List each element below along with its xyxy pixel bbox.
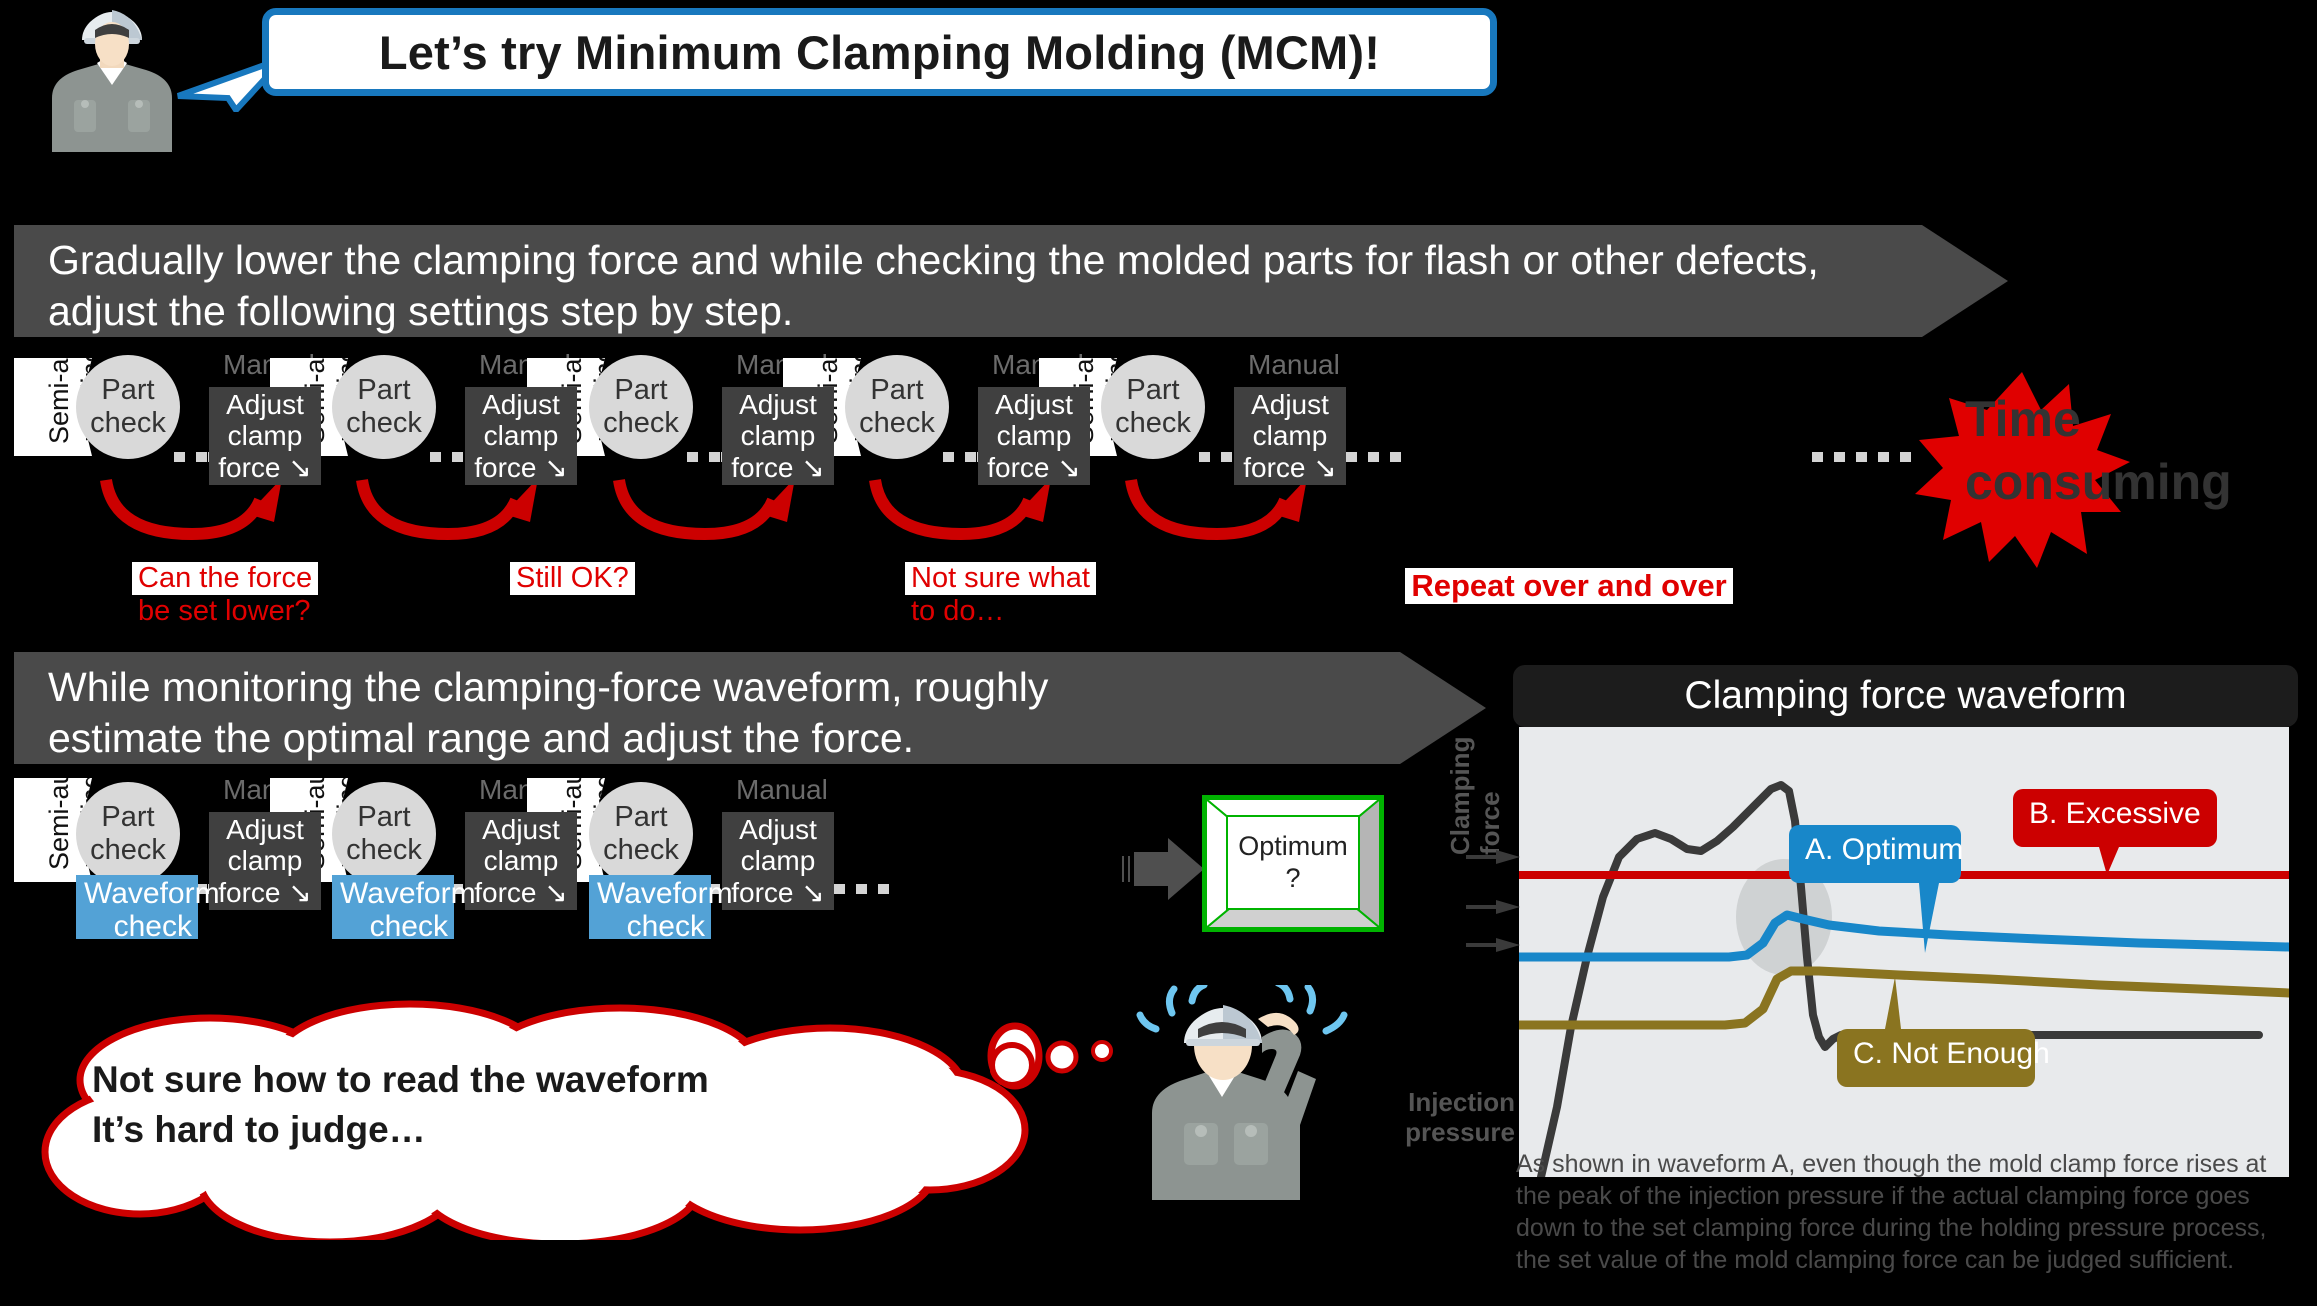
part-check-label-line1: Part	[614, 801, 667, 834]
part-check-label-line1: Part	[101, 801, 154, 834]
note-can-force-be-lower: Can the forcebe set lower?	[132, 562, 384, 629]
semi-auto-molding-label-line1: Semi-auto	[44, 321, 75, 444]
part-check-label-line2: check	[859, 407, 935, 440]
adjust-clamp-force-node[interactable]: Adjustclampforce ↘	[978, 387, 1090, 485]
adjust-clamp-force-label-line1: Adjust	[482, 389, 560, 420]
series-a-optimum	[1519, 915, 2289, 957]
x-axis-label-line2: pressure	[1385, 1118, 1515, 1148]
adjust-clamp-force-label-line3: force ↘	[731, 877, 825, 908]
adjust-clamp-force-label-line2: clamp	[484, 845, 559, 876]
adjust-clamp-force-node[interactable]: Adjustclampforce ↘	[1234, 387, 1346, 485]
waveform-check-label-line1: Waveform	[340, 877, 448, 910]
part-check-node[interactable]: Partcheck	[845, 355, 949, 459]
note-repeat-over-and-over: Repeat over and over	[1360, 568, 1778, 604]
manual-step-label: Manual	[1248, 349, 1340, 381]
time-consuming-line2: consuming	[1965, 451, 2317, 514]
banner-step2: While monitoring the clamping-force wave…	[14, 652, 1400, 764]
part-check-label-line1: Part	[101, 374, 154, 407]
feedback-loop-arrow-icon	[96, 478, 296, 554]
adjust-clamp-force-label-line1: Adjust	[995, 389, 1073, 420]
waveform-check-label-line1: Waveform	[597, 877, 705, 910]
part-check-node[interactable]: Partcheck	[76, 355, 180, 459]
worker-confident-illustration	[22, 0, 202, 152]
waveform-caption: As shown in waveform A, even though the …	[1516, 1148, 2306, 1276]
adjust-clamp-force-label-line2: clamp	[228, 845, 303, 876]
series-c-not-enough	[1519, 971, 2289, 1025]
note-can-force-be-lower-line2: be set lower?	[132, 595, 317, 628]
part-check-label-line2: check	[346, 834, 422, 867]
adjust-clamp-force-node[interactable]: Adjustclampforce ↘	[209, 387, 321, 485]
waveform-check-label-line2: check	[340, 910, 448, 943]
adjust-clamp-force-node[interactable]: Adjustclampforce ↘	[209, 812, 321, 910]
y-axis-pointer-arrows	[1466, 850, 1522, 960]
adjust-clamp-force-node[interactable]: Adjustclampforce ↘	[465, 387, 577, 485]
waveform-panel-title: Clamping force waveform	[1684, 674, 2126, 718]
adjust-clamp-force-label-line2: clamp	[1253, 420, 1328, 451]
waveform-check-node[interactable]: Waveformcheck	[589, 875, 711, 939]
manual-step-label: Manual	[736, 774, 828, 806]
callout-b-excessive-label: B. Excessive	[2029, 797, 2201, 831]
adjust-clamp-force-label-line2: clamp	[741, 845, 816, 876]
note-not-sure-what-to-do-line2: to do…	[905, 595, 1011, 628]
thought-line2: It’s hard to judge…	[92, 1105, 852, 1155]
semi-auto-molding-label-line1: Semi-auto	[44, 747, 75, 870]
adjust-clamp-force-label-line3: force ↘	[474, 877, 568, 908]
result-arrow-icon	[1122, 838, 1204, 900]
banner-step2-text: While monitoring the clamping-force wave…	[48, 662, 1048, 765]
y-axis-label-line1: Clamping	[1446, 737, 1475, 855]
part-check-node[interactable]: Partcheck	[76, 782, 180, 886]
part-check-label-line2: check	[1115, 407, 1191, 440]
adjust-clamp-force-node[interactable]: Adjustclampforce ↘	[722, 387, 834, 485]
callout-a-optimum-label: A. Optimum	[1805, 833, 1963, 867]
adjust-clamp-force-label-line3: force ↘	[218, 452, 312, 483]
adjust-clamp-force-label-line3: force ↘	[474, 452, 568, 483]
part-check-node[interactable]: Partcheck	[589, 782, 693, 886]
part-check-label-line1: Part	[614, 374, 667, 407]
waveform-chart-svg	[1519, 727, 2289, 1177]
part-check-node[interactable]: Partcheck	[1101, 355, 1205, 459]
part-check-node[interactable]: Partcheck	[332, 355, 436, 459]
adjust-clamp-force-label-line1: Adjust	[482, 814, 560, 845]
flow-connector-dots	[943, 452, 977, 462]
time-consuming-line1: Time	[1965, 388, 2317, 451]
thought-cloud-text: Not sure how to read the waveform It’s h…	[92, 1055, 852, 1155]
flow-connector-dots	[834, 884, 898, 894]
part-check-label-line2: check	[603, 834, 679, 867]
part-check-label-line1: Part	[1126, 374, 1179, 407]
adjust-clamp-force-label-line1: Adjust	[226, 814, 304, 845]
adjust-clamp-force-label-line1: Adjust	[1251, 389, 1329, 420]
waveform-plot-area: A. Optimum B. Excessive C. Not Enough	[1519, 727, 2289, 1177]
note-repeat-over-and-over-line1: Repeat over and over	[1405, 568, 1732, 604]
worker-puzzled-illustration	[1130, 985, 1365, 1200]
banner-step1-text: Gradually lower the clamping force and w…	[48, 235, 1819, 338]
speech-bubble: Let’s try Minimum Clamping Molding (MCM)…	[262, 8, 1497, 96]
part-check-label-line1: Part	[357, 374, 410, 407]
flow-connector-dots	[1199, 452, 1233, 462]
part-check-node[interactable]: Partcheck	[332, 782, 436, 886]
note-not-sure-what-to-do: Not sure whatto do…	[905, 562, 1105, 629]
x-axis-label-line1: Injection	[1385, 1088, 1515, 1118]
flow-connector-dots	[174, 452, 208, 462]
note-not-sure-what-to-do-line1: Not sure what	[905, 562, 1096, 595]
waveform-panel-header: Clamping force waveform	[1513, 665, 2298, 727]
waveform-check-node[interactable]: Waveformcheck	[76, 875, 198, 939]
adjust-clamp-force-label-line1: Adjust	[226, 389, 304, 420]
part-check-label-line2: check	[90, 834, 166, 867]
thought-cloud-bubbles	[990, 1035, 1120, 1085]
optimum-box-face: Optimum ?	[1226, 815, 1360, 910]
part-check-label-line2: check	[603, 407, 679, 440]
part-check-label-line2: check	[90, 407, 166, 440]
feedback-loop-arrow-icon	[865, 478, 1065, 554]
waveform-check-label-line2: check	[84, 910, 192, 943]
note-can-force-be-lower-line1: Can the force	[132, 562, 318, 595]
banner-step1-arrowhead	[1922, 225, 2008, 337]
waveform-check-label-line1: Waveform	[84, 877, 192, 910]
optimum-label-line2: ?	[1285, 863, 1300, 894]
adjust-clamp-force-label-line1: Adjust	[739, 814, 817, 845]
callout-c-not-enough-label: C. Not Enough	[1853, 1037, 2050, 1071]
x-axis-label-injection-pressure: Injection pressure	[1385, 1088, 1515, 1148]
note-still-ok-line1: Still OK?	[510, 562, 635, 595]
adjust-clamp-force-label-line3: force ↘	[218, 877, 312, 908]
adjust-clamp-force-label-line3: force ↘	[1243, 452, 1337, 483]
flow-connector-dots	[687, 452, 721, 462]
optimum-result-box: Optimum ?	[1202, 795, 1384, 932]
adjust-clamp-force-label-line3: force ↘	[987, 452, 1081, 483]
part-check-label-line1: Part	[870, 374, 923, 407]
part-check-node[interactable]: Partcheck	[589, 355, 693, 459]
part-check-label-line1: Part	[357, 801, 410, 834]
y-axis-label-line2: force	[1476, 791, 1505, 855]
adjust-clamp-force-label-line2: clamp	[741, 420, 816, 451]
adjust-clamp-force-label-line3: force ↘	[731, 452, 825, 483]
speech-text: Let’s try Minimum Clamping Molding (MCM)…	[379, 25, 1380, 80]
feedback-loop-arrow-icon	[609, 478, 809, 554]
flow-connector-dots	[1346, 452, 1410, 462]
adjust-clamp-force-node[interactable]: Adjustclampforce ↘	[722, 812, 834, 910]
adjust-clamp-force-node[interactable]: Adjustclampforce ↘	[465, 812, 577, 910]
adjust-clamp-force-label-line2: clamp	[228, 420, 303, 451]
adjust-clamp-force-label-line2: clamp	[997, 420, 1072, 451]
banner-step1: Gradually lower the clamping force and w…	[14, 225, 1922, 337]
adjust-clamp-force-label-line1: Adjust	[739, 389, 817, 420]
waveform-check-node[interactable]: Waveformcheck	[332, 875, 454, 939]
optimum-label-line1: Optimum	[1238, 831, 1348, 862]
adjust-clamp-force-label-line2: clamp	[484, 420, 559, 451]
feedback-loop-arrow-icon	[1121, 478, 1321, 554]
time-consuming-label: Time consuming	[1965, 388, 2317, 513]
waveform-check-label-line2: check	[597, 910, 705, 943]
note-still-ok: Still OK?	[510, 562, 705, 595]
flow-connector-dots	[430, 452, 464, 462]
flow-connector-dots-to-burst	[1812, 452, 1922, 462]
feedback-loop-arrow-icon	[352, 478, 552, 554]
thought-line1: Not sure how to read the waveform	[92, 1055, 852, 1105]
part-check-label-line2: check	[346, 407, 422, 440]
